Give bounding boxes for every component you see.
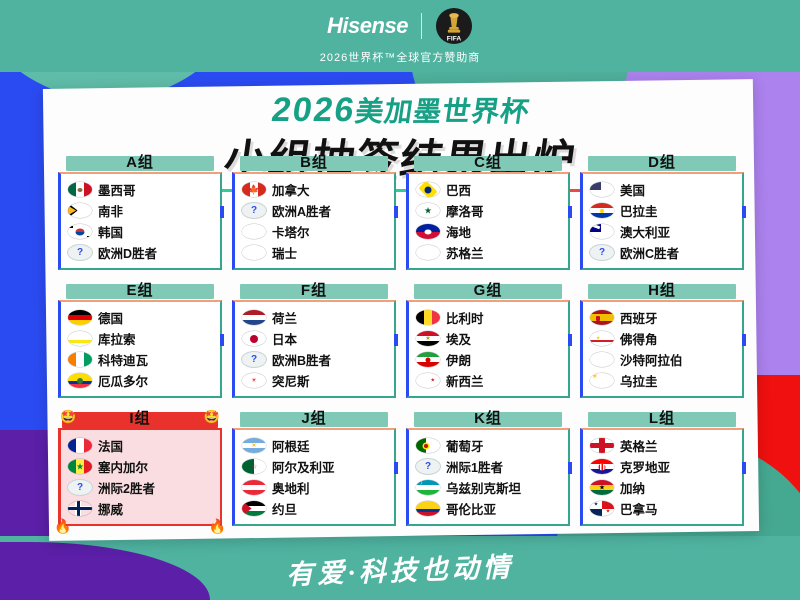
group-label: J组 [232, 407, 396, 428]
team-name: 奥地利 [272, 478, 310, 497]
team-row: ?欧洲D胜者 [68, 242, 216, 263]
team-name: 欧洲A胜者 [272, 201, 331, 220]
draw-result-card: 2026美加墨世界杯 小组抽签结果出炉 A组墨西哥南非韩国?欧洲D胜者B组🍁加拿… [43, 79, 759, 541]
team-name: 巴西 [446, 180, 471, 199]
flag-cape-verde-icon: ★ [590, 331, 614, 346]
team-row: ★澳大利亚 [590, 221, 738, 242]
group-team-list: 英格兰克罗地亚★加纳★★巴拿马 [580, 428, 744, 526]
group-team-list: 西班牙★佛得角沙特阿拉伯☀乌拉圭 [580, 300, 744, 398]
team-row: 挪威 [68, 498, 216, 519]
flag-south-korea-icon [68, 224, 92, 239]
team-row: 比利时 [416, 307, 564, 328]
group-card-J组: J组☀阿根廷☆阿尔及利亚奥地利约旦 [232, 412, 396, 526]
flag-south-africa-icon [68, 203, 92, 218]
flag-colombia-icon [416, 501, 440, 516]
title-year: 2026 [270, 91, 359, 129]
flag-unknown-icon: ? [242, 203, 266, 218]
team-row: ☀阿根廷 [242, 435, 390, 456]
team-name: 澳大利亚 [620, 222, 670, 241]
flag-germany-icon [68, 310, 92, 325]
team-name: 新西兰 [446, 371, 484, 390]
team-row: ?欧洲C胜者 [590, 242, 738, 263]
team-row: ?欧洲B胜者 [242, 349, 390, 370]
team-row: 南非 [68, 200, 216, 221]
team-row: 巴西 [416, 179, 564, 200]
star-struck-face-icon: 🤩 [60, 410, 76, 423]
team-row: 西班牙 [590, 307, 738, 328]
flag-ecuador-icon [68, 373, 92, 388]
flag-usa-icon [590, 182, 614, 197]
team-name: 墨西哥 [98, 180, 136, 199]
flag-paraguay-icon [590, 203, 614, 218]
group-label: K组 [406, 407, 570, 428]
team-row: ☀乌拉圭 [590, 370, 738, 391]
svg-text:FIFA: FIFA [447, 35, 462, 42]
team-name: 德国 [98, 308, 123, 327]
flag-portugal-icon [416, 438, 440, 453]
team-name: 英格兰 [620, 436, 658, 455]
flag-algeria-icon: ☆ [242, 459, 266, 474]
team-name: 法国 [98, 436, 123, 455]
group-card-H组: H组西班牙★佛得角沙特阿拉伯☀乌拉圭 [580, 284, 744, 398]
team-name: 突尼斯 [272, 371, 310, 390]
team-row: ?欧洲A胜者 [242, 200, 390, 221]
groups-grid: A组墨西哥南非韩国?欧洲D胜者B组🍁加拿大?欧洲A胜者卡塔尔瑞士C组巴西★摩洛哥… [58, 156, 744, 526]
group-label: I组 [58, 407, 222, 428]
group-label: H组 [580, 279, 744, 300]
group-team-list: 🍁加拿大?欧洲A胜者卡塔尔瑞士 [232, 172, 396, 270]
title-host: 美加墨世界杯 [353, 96, 531, 127]
team-name: 西班牙 [620, 308, 658, 327]
team-name: 加纳 [620, 478, 645, 497]
group-label: B组 [232, 151, 396, 172]
team-name: 洲际2胜者 [98, 478, 155, 497]
flag-argentina-icon: ☀ [242, 438, 266, 453]
team-name: 约旦 [272, 499, 297, 518]
team-name: 巴拿马 [620, 499, 658, 518]
group-team-list: 荷兰日本?欧洲B胜者☀突尼斯 [232, 300, 396, 398]
team-row: 沙特阿拉伯 [590, 349, 738, 370]
group-card-E组: E组德国★库拉索科特迪瓦厄瓜多尔 [58, 284, 222, 398]
team-name: 塞内加尔 [98, 457, 148, 476]
team-row: 约旦 [242, 498, 390, 519]
flag-belgium-icon [416, 310, 440, 325]
team-row: ★库拉索 [68, 328, 216, 349]
brand-divider [421, 13, 422, 39]
team-name: 葡萄牙 [446, 436, 484, 455]
team-row: 巴拉圭 [590, 200, 738, 221]
team-row: ?洲际1胜者 [416, 456, 564, 477]
flag-tunisia-icon: ☀ [242, 373, 266, 388]
team-name: 南非 [98, 201, 123, 220]
team-row: 海地 [416, 221, 564, 242]
team-name: 科特迪瓦 [98, 350, 148, 369]
flag-morocco-icon: ★ [416, 203, 440, 218]
team-name: 欧洲C胜者 [620, 243, 679, 262]
flag-new-zealand-icon: ★ [416, 373, 440, 388]
fifa-world-cup-trophy-icon: FIFA [435, 7, 473, 45]
team-name: 摩洛哥 [446, 201, 484, 220]
team-row: 厄瓜多尔 [68, 370, 216, 391]
flag-unknown-icon: ? [416, 459, 440, 474]
flag-unknown-icon: ? [68, 480, 92, 495]
team-row: ☆阿尔及利亚 [242, 456, 390, 477]
flag-panama-icon: ★★ [590, 501, 614, 516]
group-label: C组 [406, 151, 570, 172]
team-row: 克罗地亚 [590, 456, 738, 477]
sponsor-subtitle: 2026世界杯™全球官方赞助商 [320, 49, 480, 65]
group-card-L组: L组英格兰克罗地亚★加纳★★巴拿马 [580, 412, 744, 526]
team-row: 🍁加拿大 [242, 179, 390, 200]
team-name: 挪威 [98, 499, 123, 518]
team-row: 法国 [68, 435, 216, 456]
team-name: 库拉索 [98, 329, 136, 348]
hisense-logo: Hisense [327, 13, 408, 39]
team-row: ★新西兰 [416, 370, 564, 391]
team-row: ?洲际2胜者 [68, 477, 216, 498]
team-row: 哥伦比亚 [416, 498, 564, 519]
group-card-C组: C组巴西★摩洛哥海地苏格兰 [406, 156, 570, 270]
team-row: ☀突尼斯 [242, 370, 390, 391]
group-label: A组 [58, 151, 222, 172]
group-label: G组 [406, 279, 570, 300]
flag-egypt-icon: ★ [416, 331, 440, 346]
team-name: 美国 [620, 180, 645, 199]
flag-haiti-icon [416, 224, 440, 239]
group-label: F组 [232, 279, 396, 300]
group-card-G组: G组比利时★埃及伊朗★新西兰 [406, 284, 570, 398]
team-name: 韩国 [98, 222, 123, 241]
team-name: 伊朗 [446, 350, 471, 369]
brand-slogan: 有爱·科技也动情 [286, 545, 515, 592]
group-team-list: 法国★塞内加尔?洲际2胜者挪威 [58, 428, 222, 526]
title-subheading: 2026美加墨世界杯 [269, 90, 532, 130]
flag-austria-icon [242, 480, 266, 495]
group-team-list: 美国巴拉圭★澳大利亚?欧洲C胜者 [580, 172, 744, 270]
flag-unknown-icon: ? [242, 352, 266, 367]
flag-scotland-icon [416, 245, 440, 260]
flag-japan-icon [242, 331, 266, 346]
team-name: 日本 [272, 329, 297, 348]
group-team-list: 巴西★摩洛哥海地苏格兰 [406, 172, 570, 270]
group-label: D组 [580, 151, 744, 172]
team-row: ★塞内加尔 [68, 456, 216, 477]
team-name: 厄瓜多尔 [98, 371, 148, 390]
team-row: 奥地利 [242, 477, 390, 498]
flag-uzbekistan-icon: ☽ [416, 480, 440, 495]
flag-netherlands-icon [242, 310, 266, 325]
group-card-B组: B组🍁加拿大?欧洲A胜者卡塔尔瑞士 [232, 156, 396, 270]
team-name: 巴拉圭 [620, 201, 658, 220]
team-name: 克罗地亚 [620, 457, 670, 476]
flag-canada-icon: 🍁 [242, 182, 266, 197]
flag-switzerland-icon [242, 245, 266, 260]
flag-france-icon [68, 438, 92, 453]
flag-spain-icon [590, 310, 614, 325]
team-row: 墨西哥 [68, 179, 216, 200]
footer: 有爱·科技也动情 [0, 536, 800, 600]
group-team-list: 德国★库拉索科特迪瓦厄瓜多尔 [58, 300, 222, 398]
flag-qatar-icon [242, 224, 266, 239]
team-name: 哥伦比亚 [446, 499, 496, 518]
team-name: 佛得角 [620, 329, 658, 348]
team-name: 阿根廷 [272, 436, 310, 455]
team-name: 洲际1胜者 [446, 457, 503, 476]
team-name: 乌拉圭 [620, 371, 658, 390]
group-team-list: 墨西哥南非韩国?欧洲D胜者 [58, 172, 222, 270]
team-row: ★摩洛哥 [416, 200, 564, 221]
team-row: 科特迪瓦 [68, 349, 216, 370]
team-name: 瑞士 [272, 243, 297, 262]
team-row: 伊朗 [416, 349, 564, 370]
team-row: ★★巴拿马 [590, 498, 738, 519]
group-team-list: 比利时★埃及伊朗★新西兰 [406, 300, 570, 398]
team-row: 韩国 [68, 221, 216, 242]
team-name: 埃及 [446, 329, 471, 348]
flag-brazil-icon [416, 182, 440, 197]
flag-iran-icon [416, 352, 440, 367]
group-label: L组 [580, 407, 744, 428]
brand-row: Hisense FIFA [327, 7, 473, 45]
team-name: 比利时 [446, 308, 484, 327]
team-name: 海地 [446, 222, 471, 241]
flag-australia-icon: ★ [590, 224, 614, 239]
team-row: 卡塔尔 [242, 221, 390, 242]
group-card-A组: A组墨西哥南非韩国?欧洲D胜者 [58, 156, 222, 270]
group-team-list: ☀阿根廷☆阿尔及利亚奥地利约旦 [232, 428, 396, 526]
sponsor-header: Hisense FIFA 2026世界杯™全球官方赞助商 [0, 0, 800, 72]
team-name: 卡塔尔 [272, 222, 310, 241]
group-label: E组 [58, 279, 222, 300]
team-row: 德国 [68, 307, 216, 328]
group-card-K组: K组葡萄牙?洲际1胜者☽乌兹别克斯坦哥伦比亚 [406, 412, 570, 526]
team-name: 乌兹别克斯坦 [446, 478, 521, 497]
team-row: 葡萄牙 [416, 435, 564, 456]
group-team-list: 葡萄牙?洲际1胜者☽乌兹别克斯坦哥伦比亚 [406, 428, 570, 526]
team-row: ★加纳 [590, 477, 738, 498]
flag-unknown-icon: ? [590, 245, 614, 260]
group-card-F组: F组荷兰日本?欧洲B胜者☀突尼斯 [232, 284, 396, 398]
flag-curacao-icon: ★ [68, 331, 92, 346]
team-row: 日本 [242, 328, 390, 349]
team-row: 荷兰 [242, 307, 390, 328]
flag-mexico-icon [68, 182, 92, 197]
team-row: 美国 [590, 179, 738, 200]
flag-unknown-icon: ? [68, 245, 92, 260]
flag-saudi-arabia-icon [590, 352, 614, 367]
team-name: 苏格兰 [446, 243, 484, 262]
team-row: 瑞士 [242, 242, 390, 263]
flag-uruguay-icon: ☀ [590, 373, 614, 388]
flag-jordan-icon [242, 501, 266, 516]
flag-england-icon [590, 438, 614, 453]
team-row: 英格兰 [590, 435, 738, 456]
flag-ghana-icon: ★ [590, 480, 614, 495]
team-row: ★埃及 [416, 328, 564, 349]
fire-icon: 🔥 [54, 519, 71, 533]
flag-senegal-icon: ★ [68, 459, 92, 474]
team-name: 沙特阿拉伯 [620, 350, 683, 369]
team-row: 苏格兰 [416, 242, 564, 263]
team-name: 欧洲D胜者 [98, 243, 157, 262]
star-struck-face-icon: 🤩 [204, 410, 220, 423]
team-name: 欧洲B胜者 [272, 350, 331, 369]
group-card-I组: I组🤩🤩🔥🔥法国★塞内加尔?洲际2胜者挪威 [58, 412, 222, 526]
group-card-D组: D组美国巴拉圭★澳大利亚?欧洲C胜者 [580, 156, 744, 270]
team-name: 荷兰 [272, 308, 297, 327]
team-name: 加拿大 [272, 180, 310, 199]
team-row: ★佛得角 [590, 328, 738, 349]
flag-norway-icon [68, 501, 92, 516]
fire-icon: 🔥 [209, 519, 226, 533]
team-name: 阿尔及利亚 [272, 457, 335, 476]
flag-croatia-icon [590, 459, 614, 474]
flag-ivory-coast-icon [68, 352, 92, 367]
team-row: ☽乌兹别克斯坦 [416, 477, 564, 498]
